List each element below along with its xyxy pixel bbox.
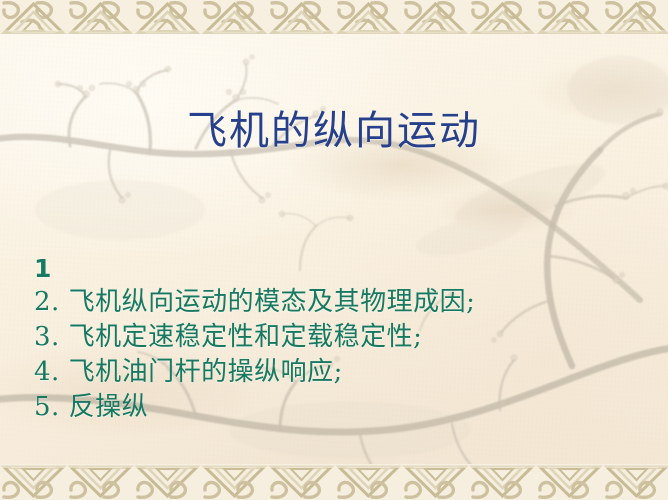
outline-item-4: 4. 飞机油门杆的操纵响应;: [34, 355, 634, 390]
outline-item-5: 5. 反操纵: [34, 390, 634, 425]
slide-title: 飞机的纵向运动: [0, 108, 668, 154]
outline-item-3: 3. 飞机定速稳定性和定载稳定性;: [34, 320, 634, 355]
top-decorative-border: [0, 0, 668, 34]
bottom-decorative-border: [0, 464, 668, 500]
plum-blossom-branch-icon: [0, 0, 668, 500]
slide-outline-list: 1 2. 飞机纵向运动的模态及其物理成因; 3. 飞机定速稳定性和定载稳定性; …: [34, 252, 634, 425]
presentation-slide: 飞机的纵向运动 1 2. 飞机纵向运动的模态及其物理成因; 3. 飞机定速稳定性…: [0, 0, 668, 500]
outline-item-1: 1: [34, 252, 634, 285]
outline-item-2: 2. 飞机纵向运动的模态及其物理成因;: [34, 285, 634, 320]
